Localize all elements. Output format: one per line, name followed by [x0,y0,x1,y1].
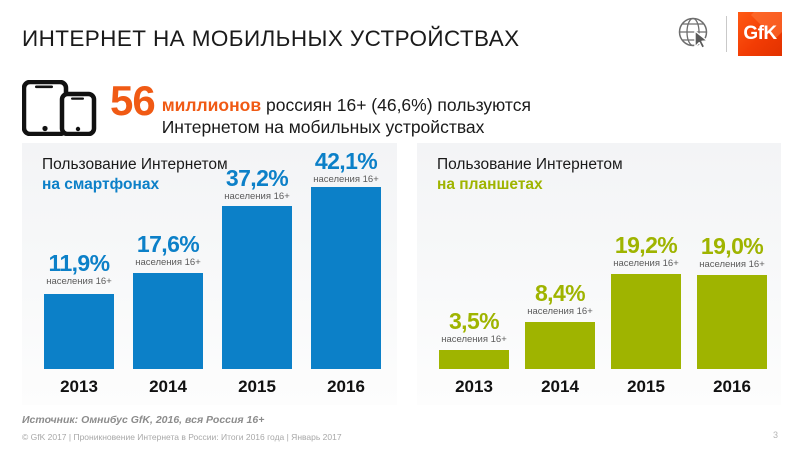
chart-tablets: 3,5% населения 16+ 2013 8,4% населения 1… [417,143,781,405]
bar-year-2013: 2013 [36,377,122,397]
copyright-note: © GfK 2017 | Проникновение Интернета в Р… [22,432,342,442]
bar-year-tablet-2014: 2014 [517,377,603,397]
headline-line2: Интернетом на мобильных устройствах [162,116,531,139]
bar-2016 [311,187,381,369]
bar-sublabel-2013: населения 16+ [36,276,122,287]
bar-sublabel-2015: населения 16+ [214,191,300,202]
bar-year-tablet-2015: 2015 [603,377,689,397]
bar-year-2015: 2015 [214,377,300,397]
bar-sublabel-2016: населения 16+ [303,174,389,185]
globe-cursor-icon [675,14,715,54]
tablet-phone-icon [22,80,106,136]
gfk-logo-text: GfK [738,12,782,56]
bar-value-2014: 17,6% [125,232,211,256]
panel-smartphones: Пользование Интернетом на смартфонах 11,… [22,143,397,405]
bar-value-tablet-2014: 8,4% [517,281,603,305]
source-note: Источник: Омнибус GfK, 2016, вся Россия … [22,414,264,426]
bar-tablet-2016 [697,275,767,369]
bar-value-tablet-2015: 19,2% [603,233,689,257]
bar-sublabel-tablet-2013: населения 16+ [431,334,517,345]
bar-tablet-2015 [611,274,681,369]
bar-value-2013: 11,9% [36,251,122,275]
bar-sublabel-tablet-2014: населения 16+ [517,306,603,317]
headline-number: 56 [110,83,155,119]
bar-value-tablet-2016: 19,0% [689,234,775,258]
bar-year-tablet-2013: 2013 [431,377,517,397]
panel-tablets: Пользование Интернетом на планшетах 3,5%… [417,143,781,405]
bar-tablet-2014 [525,322,595,369]
bar-value-2016: 42,1% [303,149,389,173]
bar-sublabel-tablet-2015: населения 16+ [603,258,689,269]
gfk-logo: GfK [675,10,782,58]
headline: 56 миллионов россиян 16+ (46,6%) пользую… [110,79,630,139]
bar-2015 [222,206,292,369]
bar-year-2016: 2016 [303,377,389,397]
bar-2013 [44,294,114,369]
bar-value-2015: 37,2% [214,166,300,190]
bar-2014 [133,273,203,369]
bar-sublabel-2014: населения 16+ [125,257,211,268]
gfk-wordmark: GfK [738,12,782,56]
bar-tablet-2013 [439,350,509,369]
bar-sublabel-tablet-2016: населения 16+ [689,259,775,270]
chart-smartphones: 11,9% населения 16+ 2013 17,6% населения… [22,143,397,405]
bar-value-tablet-2013: 3,5% [431,309,517,333]
logo-divider [726,16,727,52]
page-title: ИНТЕРНЕТ НА МОБИЛЬНЫХ УСТРОЙСТВАХ [22,26,520,52]
bar-year-tablet-2016: 2016 [689,377,775,397]
page-number: 3 [773,430,778,440]
bar-year-2014: 2014 [125,377,211,397]
headline-line1-rest: россиян 16+ (46,6%) пользуются [261,95,531,115]
slide: ИНТЕРНЕТ НА МОБИЛЬНЫХ УСТРОЙСТВАХ GfK [0,0,800,454]
headline-millions: миллионов [162,95,261,115]
